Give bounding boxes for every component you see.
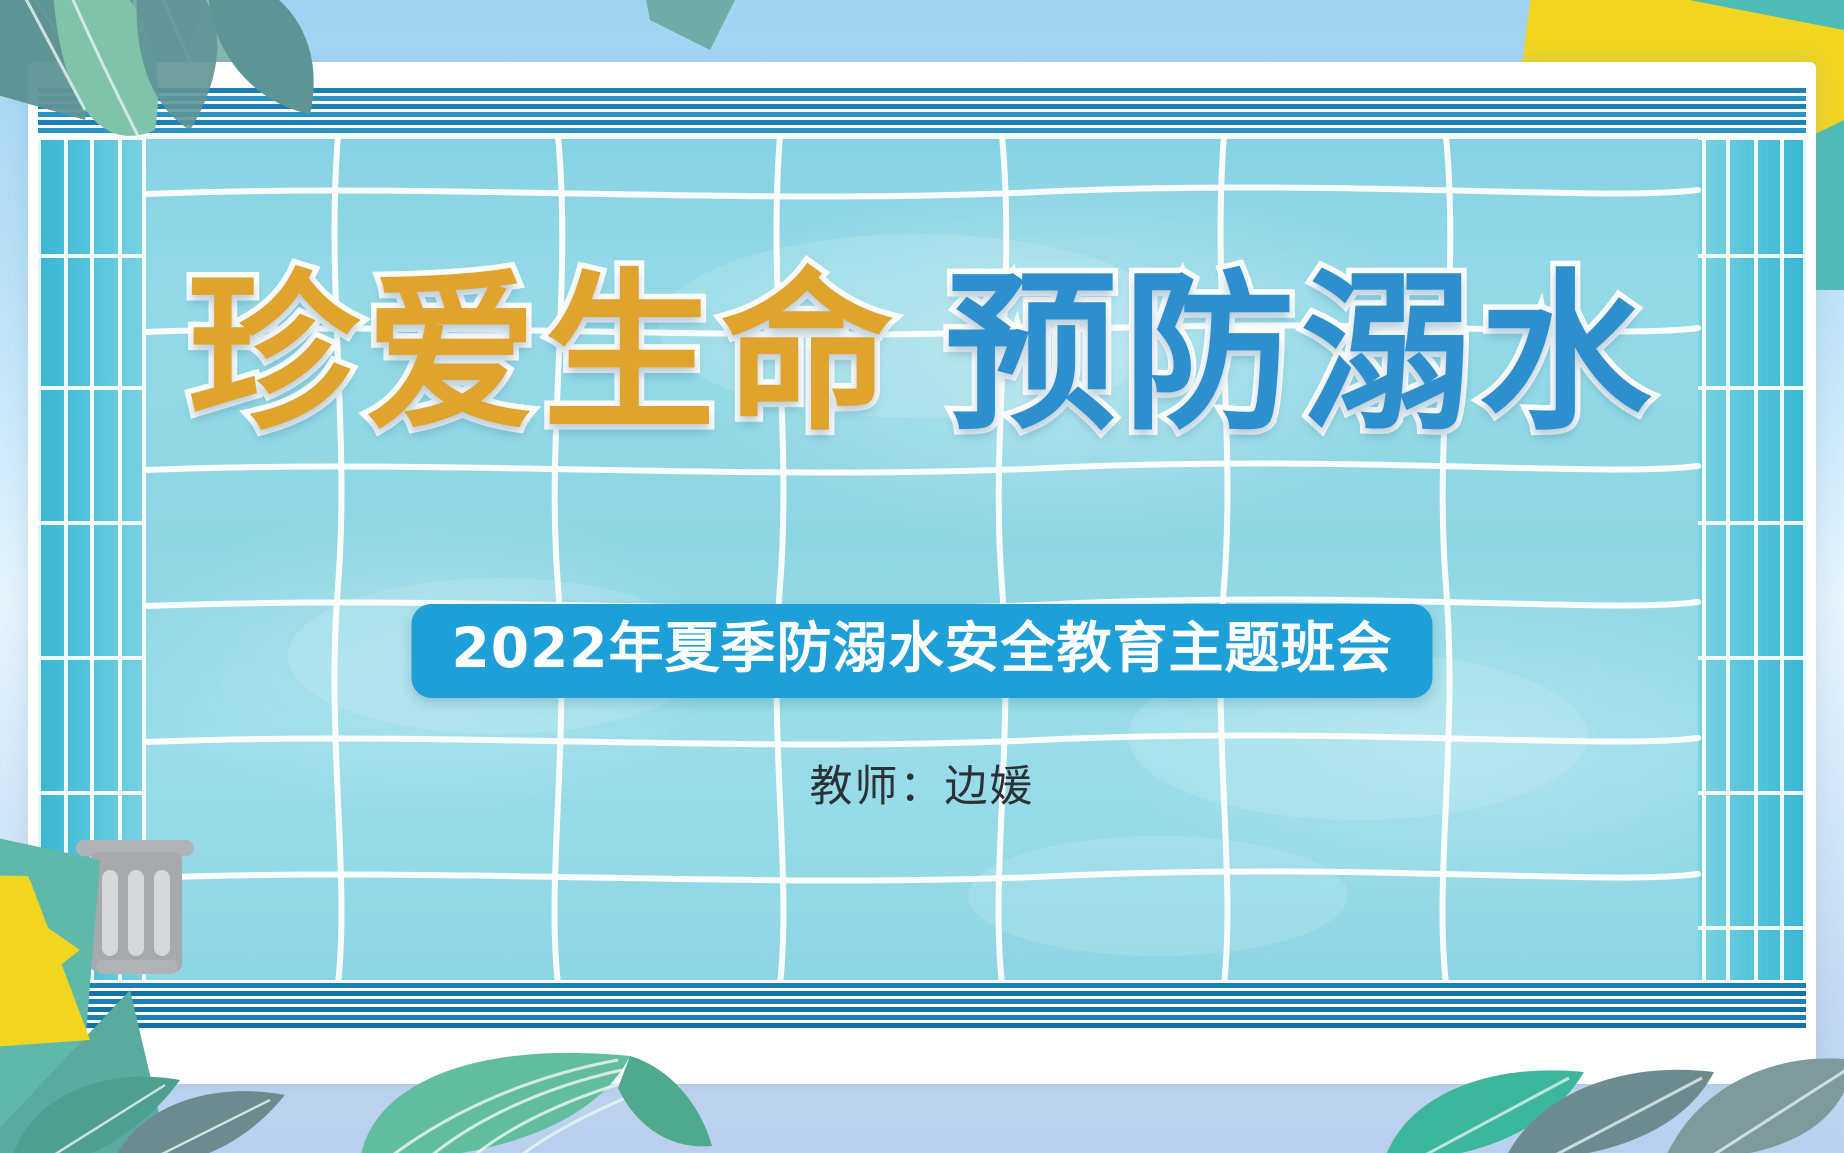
top-right-small-leaf (640, 0, 760, 60)
pool-ladder-icon (76, 836, 196, 981)
pool-wall-top (38, 88, 1806, 140)
title-blue-text: 预防溺水 (945, 268, 1657, 440)
slide-canvas: 珍爱生命预防溺水 2022年夏季防溺水安全教育主题班会 教师：边媛 (0, 0, 1844, 1153)
pool-wall-bottom (38, 980, 1806, 1028)
subtitle-banner-text: 2022年夏季防溺水安全教育主题班会 (451, 618, 1392, 680)
title-gold-text: 珍爱生命 (187, 268, 899, 440)
presenter-text: 教师：边媛 (810, 762, 1035, 812)
subtitle-banner: 2022年夏季防溺水安全教育主题班会 (411, 604, 1432, 698)
main-title: 珍爱生命预防溺水 (0, 268, 1844, 440)
presenter-line: 教师：边媛 (0, 752, 1844, 814)
